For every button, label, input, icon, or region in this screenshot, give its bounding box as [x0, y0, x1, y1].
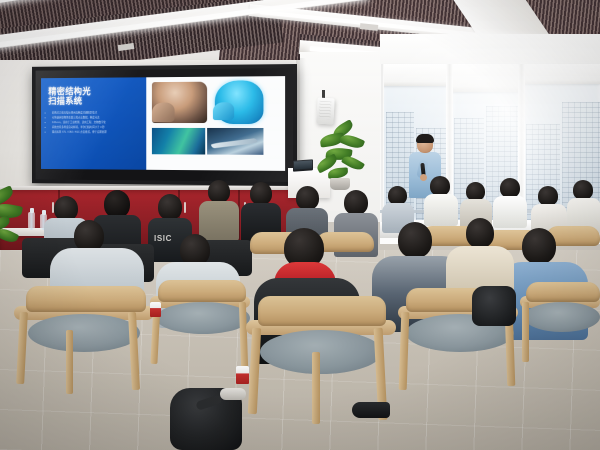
attendee-torso	[424, 194, 458, 226]
slide-bullet: 可快速获取物体表面三维点云数据，精度可达	[52, 116, 140, 120]
slide-bullet: 结构光三维扫描仪采用高精度光栅投影技术	[52, 111, 140, 115]
slide-content: 精密结构光 扫描系统 结构光三维扫描仪采用高精度光栅投影技术 可快速获取物体表面…	[41, 76, 285, 171]
chair-seat	[156, 302, 250, 334]
chair-leg	[66, 330, 73, 394]
plant-leaf	[0, 226, 19, 246]
slide-left-panel: 精密结构光 扫描系统 结构光三维扫描仪采用高精度光栅投影技术 可快速获取物体表面…	[41, 77, 146, 169]
slide-surface-render-image	[207, 128, 263, 155]
attendee-head	[398, 222, 432, 258]
slide-bullet: 输出标准 STL / OBJ / ASC 点云格式，便于后期处理	[52, 131, 140, 135]
potted-plant	[316, 124, 370, 190]
slide-scan-model-arm	[212, 102, 233, 120]
attendee-head	[538, 186, 558, 206]
presenter-hair	[416, 134, 434, 143]
chair-leg	[312, 352, 320, 424]
cabinet-handle[interactable]	[184, 202, 186, 213]
chair-backrest	[26, 286, 146, 312]
shoe	[352, 402, 390, 418]
attendee-head	[296, 186, 319, 210]
attendee-head	[573, 180, 593, 200]
slide-title-line2: 扫描系统	[48, 96, 140, 106]
plant-pot	[330, 178, 350, 190]
slide-bullet: 系统支持多角度自动拼接，单次扫描时间小于 3 秒	[52, 126, 140, 130]
speaker-grill	[319, 101, 332, 120]
slide-bullet-list: 结构光三维扫描仪采用高精度光栅投影技术 可快速获取物体表面三维点云数据，精度可达…	[48, 111, 140, 134]
attendee-head	[104, 190, 130, 218]
attendee-head	[430, 176, 450, 196]
attendee-head	[344, 190, 368, 215]
slide-bullet: 0.01mm，适用于工业检测、逆向工程、文物数字化	[52, 121, 140, 125]
presentation-display[interactable]: 精密结构光 扫描系统 结构光三维扫描仪采用高精度光栅投影技术 可快速获取物体表面…	[32, 64, 297, 186]
attendee-head	[208, 180, 230, 203]
attendee-torso	[493, 196, 527, 228]
chair-backrest	[158, 280, 246, 302]
paper-cup[interactable]	[150, 302, 161, 317]
attendee-head	[250, 182, 272, 205]
chair-seat	[28, 314, 140, 352]
chair-seat	[260, 330, 382, 374]
attendee-head	[466, 218, 494, 248]
attendee-head	[522, 228, 556, 264]
slide-scan-photo-arm	[151, 102, 174, 122]
slide-right-panel	[146, 76, 285, 171]
chair-backrest	[526, 282, 600, 302]
attendee-torso	[199, 201, 239, 241]
chair-leg	[522, 302, 529, 362]
presenter-hand	[420, 174, 427, 181]
jacket-text: ISIC	[154, 234, 172, 243]
slide-title: 精密结构光 扫描系统	[48, 86, 140, 106]
chair-backrest	[258, 296, 386, 326]
slide-title-line1: 精密结构光	[48, 86, 140, 96]
chair-seat	[524, 302, 600, 332]
attendee-head	[158, 194, 182, 220]
plant-leaf	[328, 167, 349, 178]
shoe	[220, 388, 246, 400]
laptop-screen	[294, 160, 312, 169]
slide-depth-map-image	[151, 128, 204, 155]
attendee-head	[500, 178, 520, 198]
chair-backrest	[316, 232, 374, 252]
conference-room-photo: 精密结构光 扫描系统 结构光三维扫描仪采用高精度光栅投影技术 可快速获取物体表面…	[0, 0, 600, 450]
paper-cup[interactable]	[236, 366, 249, 384]
backpack[interactable]	[472, 286, 516, 326]
